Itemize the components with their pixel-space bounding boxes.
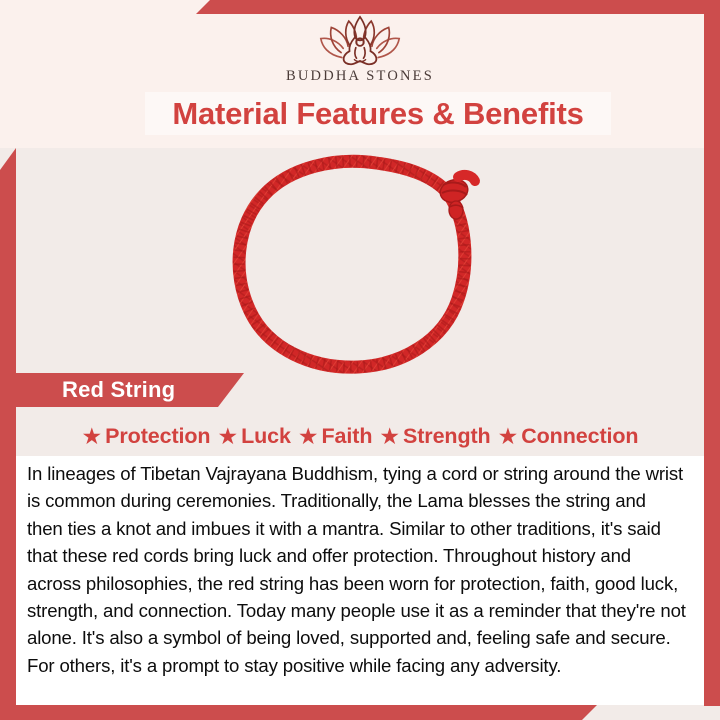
decorative-frame-left-bar xyxy=(0,148,16,720)
decorative-frame-top-bar xyxy=(196,0,720,14)
product-image-area xyxy=(16,150,704,380)
benefit-label: Connection xyxy=(521,424,638,449)
star-icon: ★ xyxy=(82,425,103,448)
lotus-meditation-figure-icon xyxy=(318,14,402,66)
benefit-item-faith: ★ Faith xyxy=(298,424,372,449)
page-title-band: Material Features & Benefits xyxy=(145,92,611,135)
red-braided-string-bracelet-image xyxy=(230,153,490,378)
benefit-item-protection: ★ Protection xyxy=(82,424,211,449)
product-name-ribbon: Red String xyxy=(0,373,244,407)
benefit-label: Strength xyxy=(403,424,491,449)
material-features-infographic: BUDDHA STONES Material Features & Benefi… xyxy=(0,0,720,720)
benefit-label: Luck xyxy=(241,424,291,449)
description-text: In lineages of Tibetan Vajrayana Buddhis… xyxy=(27,460,686,679)
benefit-label: Faith xyxy=(322,424,373,449)
star-icon: ★ xyxy=(379,425,400,448)
brand-header: BUDDHA STONES xyxy=(0,14,720,92)
decorative-frame-right-bar xyxy=(704,0,720,706)
description-panel: In lineages of Tibetan Vajrayana Buddhis… xyxy=(16,456,704,705)
star-icon: ★ xyxy=(498,425,519,448)
star-icon: ★ xyxy=(298,425,319,448)
star-icon: ★ xyxy=(217,425,238,448)
benefit-item-luck: ★ Luck xyxy=(217,424,290,449)
product-name-label: Red String xyxy=(0,377,175,403)
brand-wordmark: BUDDHA STONES xyxy=(286,68,434,85)
benefits-row: ★ Protection ★ Luck ★ Faith ★ Strength ★… xyxy=(16,418,704,454)
benefit-item-strength: ★ Strength xyxy=(379,424,490,449)
benefit-item-connection: ★ Connection xyxy=(498,424,639,449)
page-title: Material Features & Benefits xyxy=(172,96,583,132)
benefit-label: Protection xyxy=(105,424,210,449)
